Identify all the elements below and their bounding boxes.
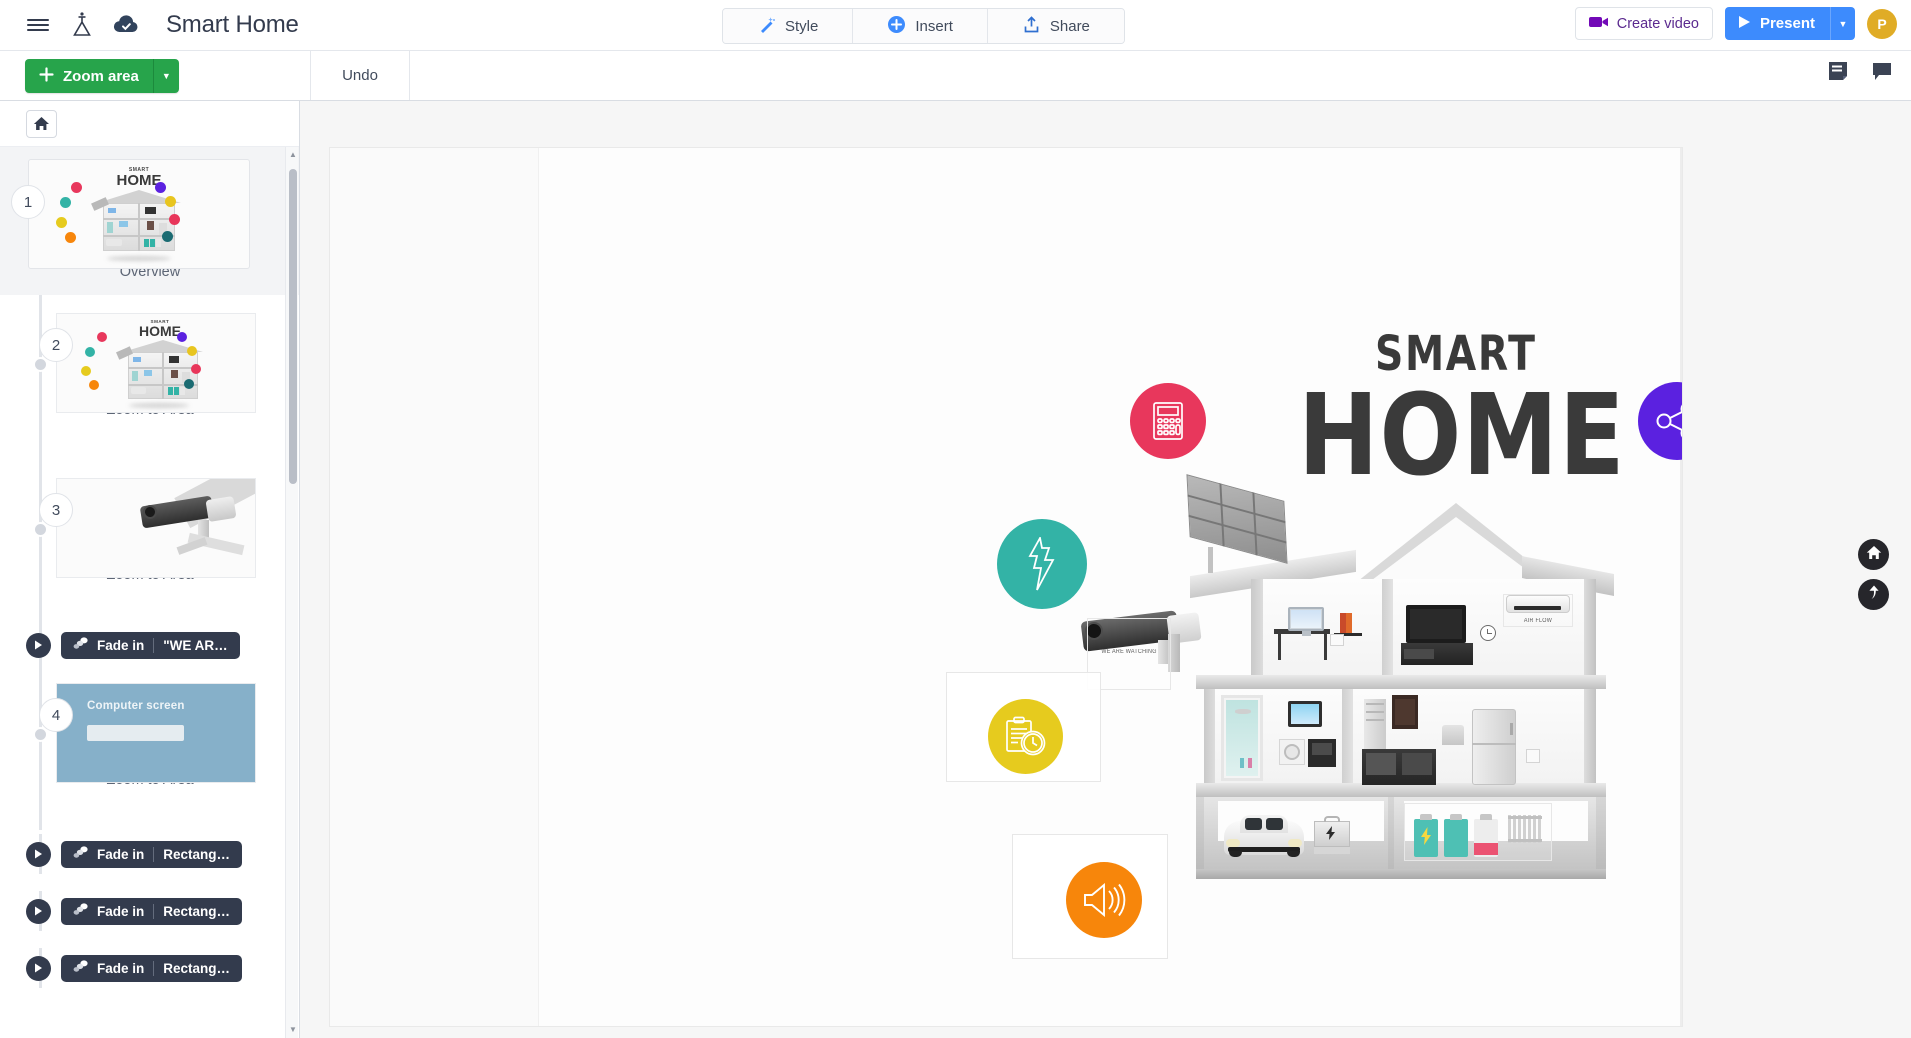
animation-row[interactable]: Fade in Rectang… (0, 834, 300, 874)
play-icon[interactable] (26, 633, 51, 658)
present-dropdown-caret[interactable]: ▼ (1830, 7, 1855, 40)
comment-icon[interactable] (1871, 60, 1893, 87)
upload-icon (1022, 15, 1041, 38)
animation-row[interactable]: Fade in Rectang… (0, 891, 300, 931)
slide-title-home: HOME (1298, 380, 1626, 492)
tab-share[interactable]: Share (988, 9, 1124, 43)
tab-insert-label: Insert (915, 18, 953, 35)
animation-effect: Fade in (97, 638, 144, 653)
secondary-toolbar: Zoom area ▼ Undo (0, 51, 1911, 101)
slide-thumbnail[interactable]: SMART HOME (56, 313, 256, 413)
plus-circle-icon (887, 15, 906, 38)
animation-icon (73, 903, 88, 919)
animation-icon (73, 637, 88, 653)
animation-target: Rectang… (163, 961, 230, 976)
curved-arrow-icon (1866, 584, 1882, 606)
create-video-label: Create video (1617, 16, 1699, 32)
tab-style[interactable]: Style (723, 9, 853, 43)
scroll-up-arrow[interactable]: ▲ (289, 150, 297, 159)
slide-item-1[interactable]: SMART HOME (0, 147, 300, 295)
notes-icon[interactable] (1827, 60, 1849, 87)
slide-item-4[interactable]: Computer screen 4 Zoom to Area (0, 665, 300, 830)
animation-icon (73, 846, 88, 862)
animation-target: Rectang… (163, 847, 230, 862)
canvas-area[interactable]: SMART HOME (300, 101, 1911, 1038)
slides-sidebar: SMART HOME (0, 101, 300, 1038)
animation-target: "WE AR… (163, 638, 227, 653)
canvas-back-button[interactable] (1858, 579, 1889, 610)
badge-schedule[interactable] (988, 699, 1063, 774)
animation-target: Rectang… (163, 904, 230, 919)
animation-chip[interactable]: Fade in "WE AR… (61, 632, 240, 659)
airflow-label: AIR FLOW (1507, 618, 1568, 624)
play-icon[interactable] (26, 899, 51, 924)
house-illustration: AIR FLOW (1196, 503, 1683, 973)
header-tabs: Style Insert Share (722, 8, 1125, 44)
animation-row[interactable]: Fade in Rectang… (0, 948, 300, 988)
animation-chip[interactable]: Fade in Rectang… (61, 841, 242, 868)
screen-label: Computer screen (87, 700, 185, 712)
animation-chip[interactable]: Fade in Rectang… (61, 955, 242, 982)
speaker-icon (1082, 883, 1126, 917)
animation-icon (73, 960, 88, 976)
slide-number: 1 (11, 185, 45, 219)
header-actions: Create video Present ▼ P (1575, 7, 1897, 40)
tab-share-label: Share (1050, 18, 1090, 35)
home-icon (1866, 545, 1882, 565)
slides-list[interactable]: SMART HOME (0, 147, 300, 1038)
play-icon[interactable] (26, 842, 51, 867)
slide-canvas[interactable]: SMART HOME (329, 147, 1683, 1027)
zoom-area-label: Zoom area (63, 68, 139, 85)
avatar[interactable]: P (1867, 9, 1897, 39)
slide-thumbnail[interactable]: SMART HOME (28, 159, 250, 269)
hamburger-icon[interactable] (16, 3, 60, 47)
magic-wand-icon (757, 15, 776, 38)
camera-label: WE ARE WATCHING (1092, 649, 1166, 655)
present-button-group: Present ▼ (1725, 7, 1855, 40)
calculator-icon (1151, 401, 1185, 441)
canvas-left-band (330, 148, 539, 1027)
slide-number: 4 (39, 698, 73, 732)
clipboard-clock-icon (1004, 716, 1048, 758)
animation-chip[interactable]: Fade in Rectang… (61, 898, 242, 925)
slide-number: 3 (39, 493, 73, 527)
page-title: Smart Home (166, 11, 299, 39)
flask-icon[interactable] (60, 3, 104, 47)
canvas-home-button[interactable] (1858, 539, 1889, 570)
scroll-down-arrow[interactable]: ▼ (289, 1025, 297, 1034)
animation-effect: Fade in (97, 847, 144, 862)
badge-energy[interactable] (997, 519, 1087, 609)
slide-thumbnail[interactable]: Computer screen (56, 683, 256, 783)
zoom-area-button[interactable]: Zoom area (25, 59, 153, 93)
lightning-icon (1027, 537, 1057, 591)
animation-effect: Fade in (97, 961, 144, 976)
play-icon[interactable] (26, 956, 51, 981)
undo-button[interactable]: Undo (310, 51, 410, 100)
slide-thumbnail[interactable] (56, 478, 256, 578)
badge-audio[interactable] (1066, 862, 1142, 938)
badge-calculator[interactable] (1130, 383, 1206, 459)
canvas-nav-buttons (1858, 539, 1889, 610)
create-video-button[interactable]: Create video (1575, 7, 1713, 40)
video-camera-icon (1589, 15, 1609, 33)
present-button[interactable]: Present (1725, 7, 1830, 40)
slide-item-2[interactable]: SMART HOME (0, 295, 300, 460)
cloud-check-icon[interactable] (104, 3, 148, 47)
play-icon (1738, 15, 1751, 33)
zoom-area-dropdown-caret[interactable]: ▼ (153, 59, 179, 93)
tab-style-label: Style (785, 18, 818, 35)
badge-network[interactable] (1638, 382, 1683, 460)
slide-number: 2 (39, 328, 73, 362)
share-nodes-icon (1656, 402, 1683, 440)
scrollbar-thumb[interactable] (289, 169, 297, 484)
toolbar-right-icons (1827, 60, 1893, 87)
animation-effect: Fade in (97, 904, 144, 919)
tab-insert[interactable]: Insert (853, 9, 988, 43)
sidebar-home-row (0, 101, 299, 147)
animation-row[interactable]: Fade in "WE AR… (0, 625, 300, 665)
sidebar-scrollbar[interactable]: ▲ ▼ (285, 147, 298, 1038)
zoom-area-button-group: Zoom area ▼ (25, 59, 179, 93)
home-icon[interactable] (26, 110, 57, 138)
present-label: Present (1760, 15, 1815, 32)
slide-item-3[interactable]: 3 Zoom to Area (0, 460, 300, 625)
plus-icon (39, 67, 54, 86)
app-header: Smart Home Style Insert Share Create v (0, 0, 1911, 51)
